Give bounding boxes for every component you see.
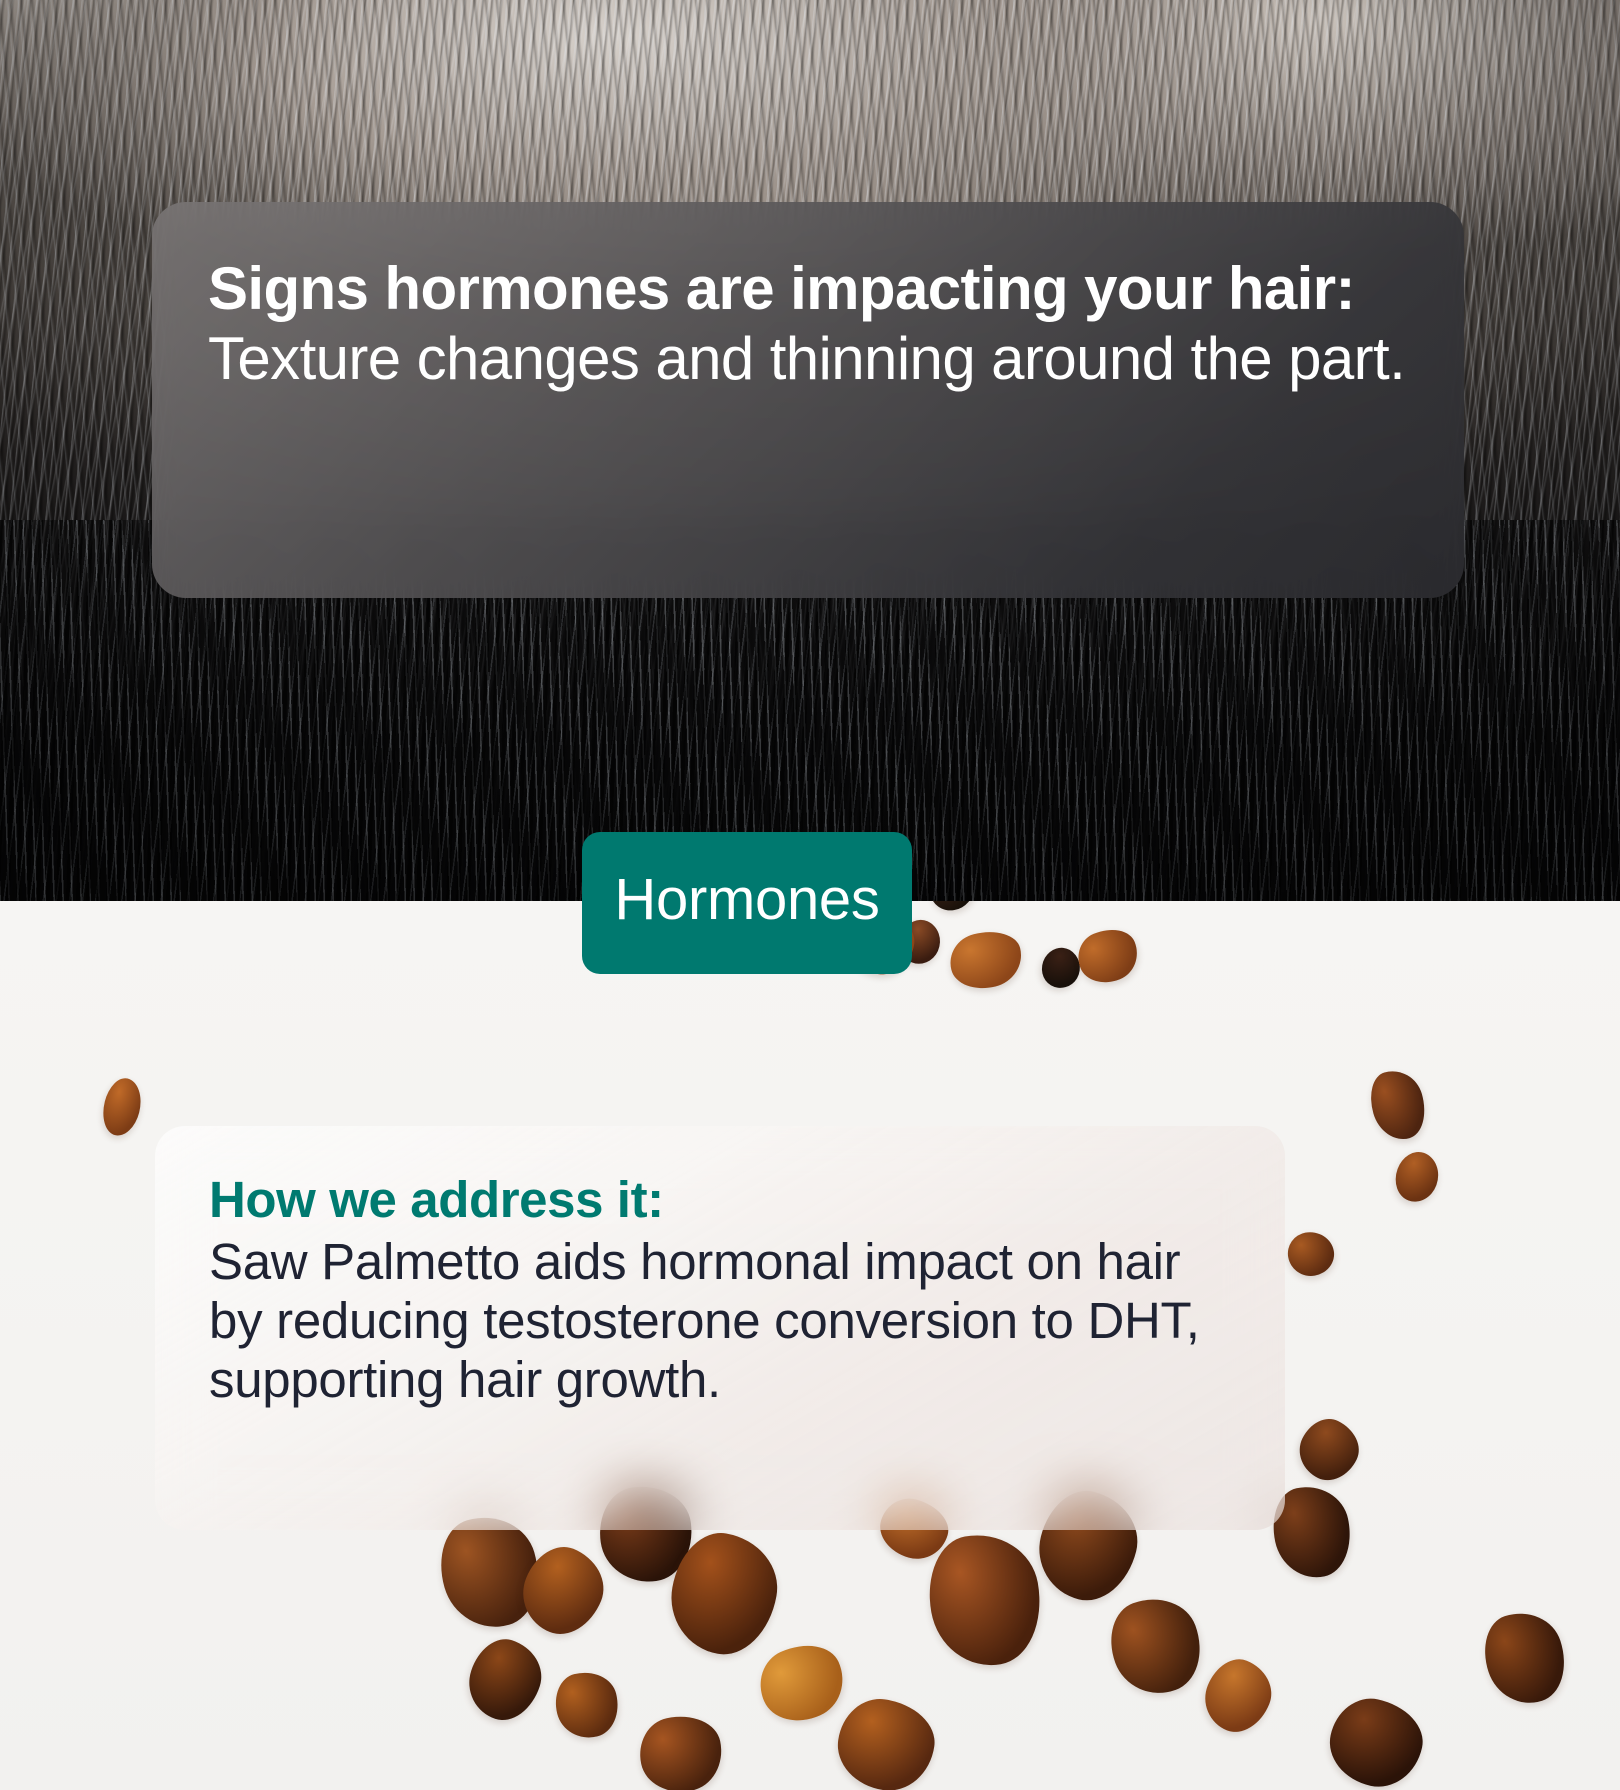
hormone-signs-lead: Signs hormones are impacting your hair: [208,255,1355,322]
berry-fragment [98,1075,147,1140]
berry-fragment [923,901,981,918]
berry-fragment [1363,1064,1432,1146]
berry-fragment [749,1632,856,1734]
berry-fragment [1322,1691,1430,1790]
hormone-signs-rest: Texture changes and thinning around the … [208,325,1405,392]
hormone-signs-card: Signs hormones are impacting your hair: … [152,202,1464,598]
how-we-address-heading: How we address it: [209,1172,1231,1228]
berry-fragment [1389,1146,1446,1207]
how-we-address-card: How we address it: Saw Palmetto aids hor… [155,1126,1285,1530]
category-badge-label: Hormones [614,871,879,929]
berry-fragment [944,924,1027,996]
berry-fragment [1070,921,1145,992]
berry-fragment [1195,1651,1281,1742]
berry-fragment [459,1631,550,1729]
berry-fragment [832,1694,940,1790]
berry-fragment [1290,1410,1368,1489]
berry-fragment [549,1665,625,1744]
how-we-address-body: Saw Palmetto aids hormonal impact on hai… [209,1232,1231,1409]
berry-fragment [1098,1586,1214,1706]
berry-fragment [1474,1602,1577,1714]
berry-fragment [1285,1228,1338,1279]
category-badge-hormones[interactable]: Hormones [582,832,912,974]
hormone-signs-text: Signs hormones are impacting your hair: … [208,254,1408,394]
berry-fragment [633,1708,729,1790]
